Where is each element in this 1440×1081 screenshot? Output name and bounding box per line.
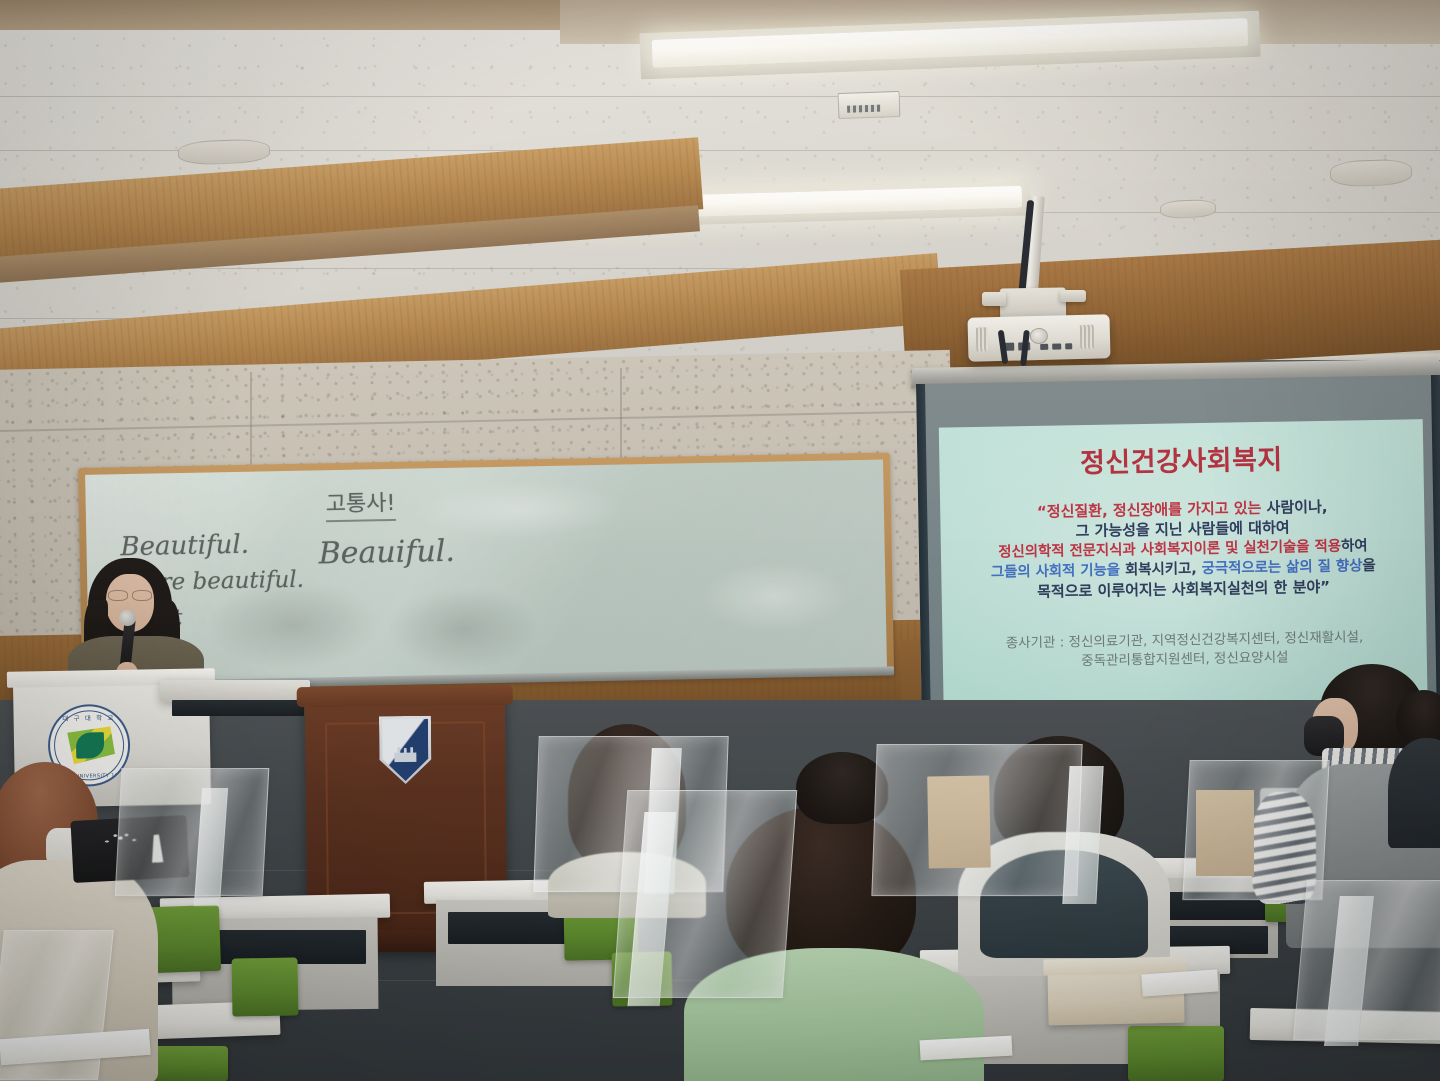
presenter-glasses [108,590,128,601]
presenter-glasses [132,590,152,601]
audience-clothing [1388,738,1440,848]
projector-vent [976,327,989,351]
projector-port [1040,344,1048,350]
logo-text-korean: 대 구 대 학 교 [50,712,128,723]
projector-mount-arm [1060,290,1086,302]
slide-title: 정신건강사회복지 [939,435,1424,482]
projector-mount-arm [982,292,1006,306]
acrylic-divider [115,768,270,896]
whiteboard-heading-korean: 고통사! [325,485,395,522]
whiteboard-smudge [387,586,539,671]
whiteboard-note-right: Beauiful. [318,534,455,572]
projector-lens [1030,328,1048,344]
ceiling-device-box [838,91,901,119]
slide-quote-body: “정신질환, 정신장애를 가지고 있는 사람이나, 그 가능성을 지닌 사람들에… [940,495,1426,603]
podium-shelf [160,680,310,702]
device-vent [847,105,881,113]
microphone-head [119,610,136,626]
audience-member [1396,690,1440,840]
projector-vent [1080,325,1095,349]
chair[interactable] [1128,1026,1224,1081]
projector-port [1065,343,1072,349]
lecture-hall-photo: Beautiful. More beautiful. Most 고통사! Bea… [0,0,1440,1081]
lectern-top-edge [297,685,513,707]
paper-bag [927,775,991,868]
ceiling-edge-shadow [0,0,560,30]
ceiling-tile-seam [0,96,1440,97]
paper-bag [1196,790,1254,876]
podium-under-shelf [172,700,304,716]
chair[interactable] [231,957,298,1016]
divider-fold [1062,766,1103,904]
projector-port [1052,343,1061,349]
ceiling-projector[interactable] [967,314,1110,361]
